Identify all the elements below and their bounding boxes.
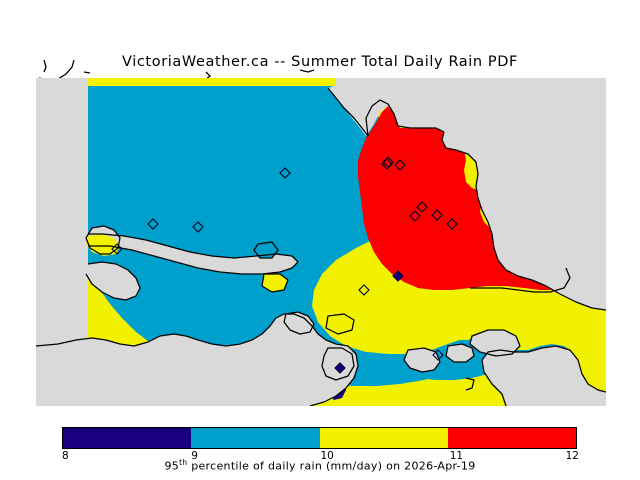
colorbar-band-9-10 <box>191 428 319 448</box>
colorbar-caption: 95th percentile of daily rain (mm/day) o… <box>0 458 640 473</box>
map-plot-area <box>36 78 606 406</box>
colorbar-bands <box>62 427 577 449</box>
weather-map-page: VictoriaWeather.ca -- Summer Total Daily… <box>0 0 640 480</box>
colorbar-band-10-11 <box>320 428 448 448</box>
contour-map <box>36 78 606 406</box>
colorbar: 89101112 <box>60 425 580 455</box>
caption-pre: 95 <box>165 460 180 473</box>
colorbar-band-8-9 <box>63 428 191 448</box>
caption-post: percentile of daily rain (mm/day) on 202… <box>187 460 475 473</box>
colorbar-band-11-12 <box>448 428 576 448</box>
